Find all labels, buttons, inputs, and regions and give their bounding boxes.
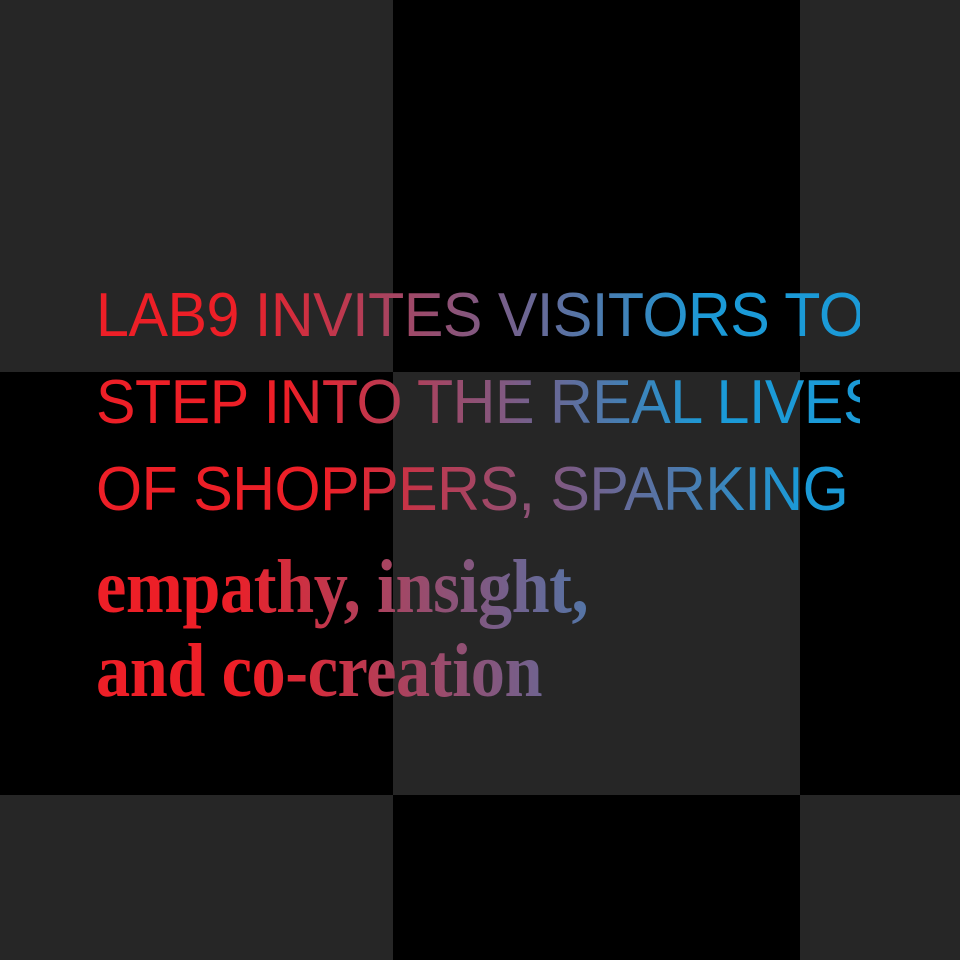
checker-cell [0,795,393,960]
headline-line-1: LAB9 INVITES VISITORS TO [96,272,860,359]
checker-cell [393,795,800,960]
headline-line-5: and co-creation [96,629,816,713]
headline-line-3: OF SHOPPERS, SPARKING [96,446,860,533]
checker-cell [800,795,960,960]
headline-line-4: empathy, insight, [96,545,816,629]
poster-canvas: LAB9 INVITES VISITORS TO STEP INTO THE R… [0,0,960,960]
headline-line-2: STEP INTO THE REAL LIVES [96,359,860,446]
headline-block: LAB9 INVITES VISITORS TO STEP INTO THE R… [96,272,896,713]
